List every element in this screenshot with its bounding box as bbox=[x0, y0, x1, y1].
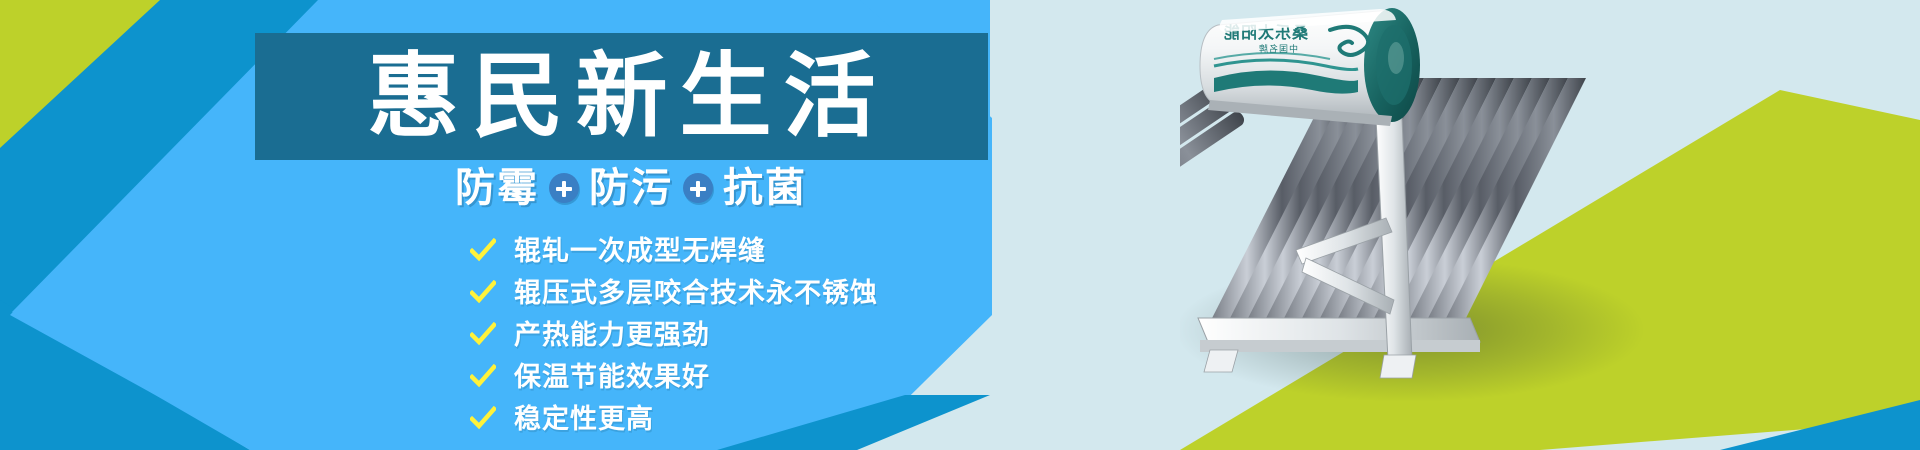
plus-badge-icon bbox=[683, 173, 713, 203]
feature-label: 保温节能效果好 bbox=[514, 364, 710, 391]
feature-list: 辊轧一次成型无焊缝 辊压式多层咬合技术永不锈蚀 产热能力更强劲 保温节能效果好 bbox=[470, 234, 878, 436]
feature-label: 辊轧一次成型无焊缝 bbox=[514, 238, 766, 265]
plus-badge-icon bbox=[549, 173, 579, 203]
title-plate: 惠民新生活 bbox=[255, 33, 988, 160]
list-item: 保温节能效果好 bbox=[470, 360, 878, 394]
tank-end-cap bbox=[1364, 8, 1420, 122]
subtitle-word-2: 防污 bbox=[589, 168, 673, 208]
feature-label: 辊压式多层咬合技术永不锈蚀 bbox=[514, 280, 878, 307]
check-icon bbox=[470, 406, 496, 432]
check-icon bbox=[470, 322, 496, 348]
subtitle-word-1: 防霉 bbox=[455, 168, 539, 208]
list-item: 稳定性更高 bbox=[470, 402, 878, 436]
check-icon bbox=[470, 280, 496, 306]
list-item: 辊轧一次成型无焊缝 bbox=[470, 234, 878, 268]
list-item: 辊压式多层咬合技术永不锈蚀 bbox=[470, 276, 878, 310]
check-icon bbox=[470, 364, 496, 390]
check-icon bbox=[470, 238, 496, 264]
page-title: 惠民新生活 bbox=[355, 51, 887, 143]
promo-banner: 惠民新生活 防霉 防污 抗菌 辊轧一次成型无焊缝 辊压式多层咬合技术永不锈蚀 产… bbox=[0, 0, 1920, 450]
product-image: 桑乐太阳能 中国名牌 bbox=[1180, 0, 1740, 450]
subtitle-row: 防霉 防污 抗菌 bbox=[455, 168, 807, 208]
list-item: 产热能力更强劲 bbox=[470, 318, 878, 352]
svg-text:中国名牌: 中国名牌 bbox=[1258, 43, 1298, 55]
subtitle-word-3: 抗菌 bbox=[723, 168, 807, 208]
feature-label: 稳定性更高 bbox=[514, 406, 654, 433]
feature-label: 产热能力更强劲 bbox=[514, 322, 710, 349]
solar-water-heater-illustration: 桑乐太阳能 中国名牌 bbox=[1180, 0, 1740, 450]
tank-sub-text: 中国名牌 bbox=[1258, 43, 1298, 55]
